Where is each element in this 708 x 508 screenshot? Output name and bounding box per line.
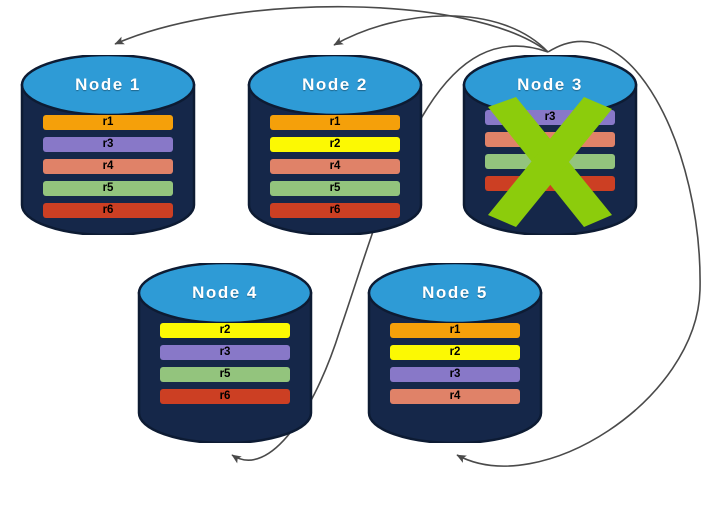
node-label-4: Node 4 (135, 283, 315, 303)
replica-row: r4 (390, 389, 520, 404)
node-rows-4: r2r3r5r6 (160, 323, 290, 411)
replica-row: r4 (43, 159, 173, 174)
replica-row: r3 (160, 345, 290, 360)
replica-row: r1 (43, 115, 173, 130)
replica-row: r1 (270, 115, 400, 130)
node-cylinder-5[interactable]: Node 5 r1r2r3r4 (365, 263, 545, 443)
replica-row: r5 (160, 367, 290, 382)
node-rows-1: r1r3r4r5r6 (43, 115, 173, 225)
replica-row: r2 (270, 137, 400, 152)
replica-row: r3 (390, 367, 520, 382)
replica-row: r6 (43, 203, 173, 218)
node-rows-2: r1r2r4r5r6 (270, 115, 400, 225)
replica-row: r4 (270, 159, 400, 174)
arrow-node3-to-node2 (334, 16, 548, 52)
replica-row: r5 (43, 181, 173, 196)
node-cylinder-2[interactable]: Node 2 r1r2r4r5r6 (245, 55, 425, 235)
node-label-3: Node 3 (460, 75, 640, 95)
node-failed-x-icon (472, 97, 628, 237)
node-label-2: Node 2 (245, 75, 425, 95)
diagram-canvas: Node 1 r1r3r4r5r6 Node 2 r1r2r4r5r6 Node… (0, 0, 708, 508)
replica-row: r6 (160, 389, 290, 404)
replica-row: r2 (160, 323, 290, 338)
node-label-5: Node 5 (365, 283, 545, 303)
node-cylinder-1[interactable]: Node 1 r1r3r4r5r6 (18, 55, 198, 235)
node-label-1: Node 1 (18, 75, 198, 95)
node-cylinder-4[interactable]: Node 4 r2r3r5r6 (135, 263, 315, 443)
replica-row: r3 (43, 137, 173, 152)
node-rows-5: r1r2r3r4 (390, 323, 520, 411)
replica-row: r2 (390, 345, 520, 360)
replica-row: r5 (270, 181, 400, 196)
replica-row: r1 (390, 323, 520, 338)
replica-row: r6 (270, 203, 400, 218)
arrow-node3-to-node1 (115, 7, 548, 52)
node-cylinder-3[interactable]: Node 3 r3 (460, 55, 640, 235)
